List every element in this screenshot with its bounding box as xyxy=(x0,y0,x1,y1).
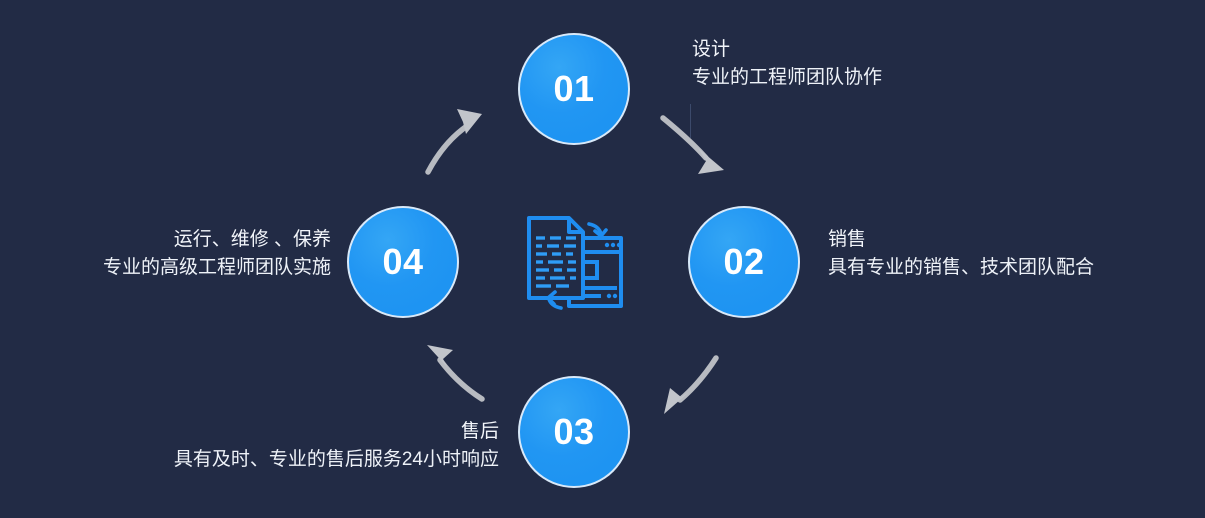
step-description: 具有专业的销售、技术团队配合 xyxy=(828,254,1094,282)
step-label-01: 设计 专业的工程师团队协作 xyxy=(692,36,882,91)
step-description: 专业的工程师团队协作 xyxy=(692,64,882,92)
step-description: 具有及时、专业的售后服务24小时响应 xyxy=(174,446,499,474)
arrow-01-to-02 xyxy=(663,118,724,174)
label-connector-tick xyxy=(690,104,691,138)
arrow-04-to-01 xyxy=(428,109,482,172)
step-node-03[interactable]: 03 xyxy=(518,376,630,488)
document-transfer-icon xyxy=(521,212,631,316)
step-label-02: 销售 具有专业的销售、技术团队配合 xyxy=(828,226,1094,281)
step-title: 设计 xyxy=(692,36,882,64)
step-title: 销售 xyxy=(828,226,1094,254)
step-node-04[interactable]: 04 xyxy=(347,206,459,318)
step-description: 专业的高级工程师团队实施 xyxy=(103,254,331,282)
step-number: 01 xyxy=(553,71,594,107)
step-number: 03 xyxy=(553,414,594,450)
step-number: 02 xyxy=(723,244,764,280)
step-label-03: 售后 具有及时、专业的售后服务24小时响应 xyxy=(174,418,499,473)
step-node-01[interactable]: 01 xyxy=(518,33,630,145)
step-node-02[interactable]: 02 xyxy=(688,206,800,318)
step-title: 运行、维修 、保养 xyxy=(103,226,331,254)
arrow-03-to-04 xyxy=(427,345,482,399)
diagram-canvas: 01 02 03 04 设计 专业的工程师团队协作 销售 具有专业的销售、技术团… xyxy=(0,0,1205,518)
arrow-02-to-03 xyxy=(664,358,716,414)
step-number: 04 xyxy=(382,244,423,280)
step-title: 售后 xyxy=(174,418,499,446)
step-label-04: 运行、维修 、保养 专业的高级工程师团队实施 xyxy=(103,226,331,281)
